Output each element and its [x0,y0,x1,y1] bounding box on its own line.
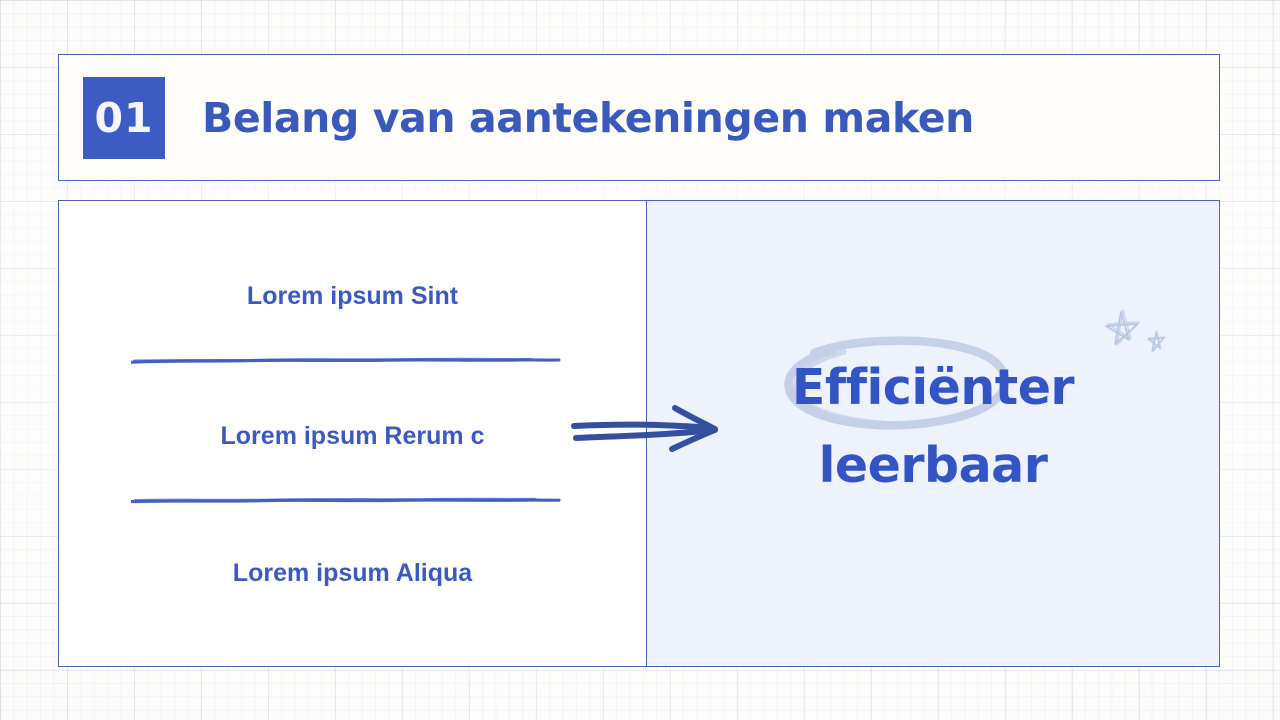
step-number-label: 01 [94,94,153,142]
list-item: Lorem ipsum Rerum c [59,422,646,451]
note-divider-2 [131,492,561,501]
list-item: Lorem ipsum Aliqua [59,559,646,588]
step-number-badge: 01 [83,77,165,159]
header-card: 01 Belang van aantekeningen maken [58,54,1220,181]
list-item: Lorem ipsum Sint [59,282,646,311]
right-arrow-icon [565,398,740,468]
note-item-label-1: Lorem ipsum Sint [247,282,458,311]
note-item-label-2: Lorem ipsum Rerum c [221,422,485,451]
note-item-label-3: Lorem ipsum Aliqua [233,559,472,588]
page-title: Belang van aantekeningen maken [202,94,974,142]
notes-panel: Lorem ipsum Sint Lorem ipsum Rerum c [59,201,647,666]
note-divider-1 [131,352,561,361]
notes-list: Lorem ipsum Sint Lorem ipsum Rerum c [59,201,646,666]
